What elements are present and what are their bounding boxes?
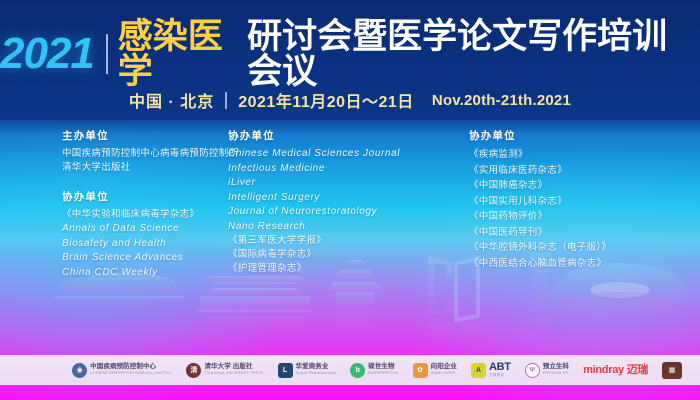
organizer-item: 《中国实用儿科杂志》 [469, 194, 700, 210]
organizer-item: Nano Research [228, 220, 445, 235]
date-chinese: 2021年11月20日～21日 [238, 88, 414, 112]
sponsor-name-cn: 清华大学 出版社 [204, 364, 263, 371]
sponsor-name-en: TSINGHUA UNIVERSITY PRESS [204, 372, 263, 376]
organizer-item: Brain Science Advances [62, 251, 220, 266]
sponsor-mark-icon: A [471, 363, 486, 378]
organizer-item: Infectious Medicine [228, 162, 445, 177]
organizer-item: 《中国医药导刊》 [469, 225, 700, 241]
sponsor-name-cn: 中国疾病预防控制中心 [90, 364, 172, 371]
date-location-row: 中国 · 北京 2021年11月20日～21日 Nov.20th-21th.20… [0, 88, 700, 112]
year-label: 2021 [0, 32, 106, 76]
sponsor-name-en: PREVAILS VP [543, 372, 569, 376]
sponsor-logo: mindray 迈瑞 [583, 365, 648, 376]
organizer-item: 《实用临床医药杂志》 [469, 163, 700, 179]
organizer-columns: 主办单位 中国疾病预防控制中心病毒病预防控制所 清华大学出版社 协办单位 《中华… [0, 128, 700, 278]
sponsor-name-en: 艾博泰克 [489, 374, 511, 378]
organizer-item: 《中西医结合心脑血管病杂志》 [469, 256, 700, 272]
title-main: 研讨会暨医学论文写作培训会议 [247, 19, 700, 89]
organizer-item: 《中华腔镜外科杂志（电子版）》 [469, 240, 700, 256]
organizer-item: 《护理管理杂志》 [228, 262, 445, 276]
sponsor-name-cn: 华爱商务业 [296, 364, 337, 371]
title-row: 2021 感染医学 研讨会暨医学论文写作培训会议 [0, 26, 700, 82]
group-heading: 协办单位 [469, 128, 700, 143]
organizer-item: Chinese Medical Sciences Journal [228, 147, 445, 162]
title-highlight: 感染医学 [118, 19, 247, 89]
organizer-item: 《中国肺癌杂志》 [469, 178, 700, 194]
sponsor-name-en: HUAAI Pharmaceutical [296, 372, 337, 376]
organizer-column-1: 主办单位 中国疾病预防控制中心病毒病预防控制所 清华大学出版社 协办单位 《中华… [0, 128, 220, 280]
organizer-item: 《中国药物评价》 [469, 209, 700, 225]
sponsor-name-en: CHINESE CENTER FOR DISEASE CONTROL [90, 372, 172, 376]
sponsor-mark-icon: Ψ [525, 363, 540, 378]
sponsor-name-cn: 向阳企业 [431, 364, 457, 371]
conference-banner: 2021 感染医学 研讨会暨医学论文写作培训会议 中国 · 北京 2021年11… [0, 0, 700, 400]
organizer-item: Journal of Neurorestoratology [228, 205, 445, 220]
date-english: Nov.20th-21th.2021 [432, 92, 571, 109]
sponsor-name-en: BIOPERFECTUS [368, 372, 398, 376]
organizer-item: 《中华实验和临床病毒学杂志》 [62, 208, 220, 222]
sponsor-mark-icon: b [350, 363, 365, 378]
sponsor-logo: 清 清华大学 出版社 TSINGHUA UNIVERSITY PRESS [186, 363, 263, 378]
sponsor-logo: Ψ 预立生科 PREVAILS VP [525, 363, 569, 378]
organizer-item: Biosafety and Health [62, 237, 220, 252]
sponsor-mark-icon: 清 [186, 363, 201, 378]
sponsor-mark-icon: L [278, 363, 293, 378]
organizer-item: Annals of Data Science [62, 222, 220, 237]
organizer-item: Intelligent Surgery [228, 191, 445, 206]
organizer-item: 《第三军医大学学报》 [228, 234, 445, 248]
sponsor-name-cn: ABT [489, 362, 511, 373]
sponsor-logo: L 华爱商务业 HUAAI Pharmaceutical [278, 363, 337, 378]
sponsor-logo: ▦ [662, 362, 682, 379]
location-label: 中国 · 北京 [129, 88, 214, 112]
organizer-column-2: 协办单位 Chinese Medical Sciences Journal In… [220, 128, 445, 276]
sponsor-logo-strip: ◉ 中国疾病预防控制中心 CHINESE CENTER FOR DISEASE … [0, 355, 700, 385]
organizer-item: 《国际病毒学杂志》 [228, 248, 445, 262]
group-heading: 主办单位 [62, 128, 220, 143]
organizer-item: iLiver [228, 176, 445, 191]
landmark-tiananmen-gate [198, 276, 312, 330]
sponsor-name-cn: 硕世生物 [368, 364, 398, 371]
sponsor-mark-icon: ✿ [413, 363, 428, 378]
sponsor-logo: ◉ 中国疾病预防控制中心 CHINESE CENTER FOR DISEASE … [72, 363, 172, 378]
sponsor-mark-icon: ▦ [662, 362, 682, 379]
sponsor-name-cn: mindray 迈瑞 [583, 365, 648, 376]
group-heading: 协办单位 [228, 128, 445, 143]
sponsor-mark-icon: ◉ [72, 363, 87, 378]
sponsor-logo: ✿ 向阳企业 SUNFLOWER [413, 363, 457, 378]
organizer-column-3: 协办单位 《疾病监测》 《实用临床医药杂志》 《中国肺癌杂志》 《中国实用儿科杂… [445, 128, 700, 271]
title-divider [106, 34, 108, 74]
organizer-item: 《疾病监测》 [469, 147, 700, 163]
organizer-item: 中国疾病预防控制中心病毒病预防控制所 [62, 147, 220, 161]
organizer-item: China CDC Weekly [62, 266, 220, 281]
sponsor-logo: b 硕世生物 BIOPERFECTUS [350, 363, 398, 378]
sponsor-name-en: SUNFLOWER [431, 372, 457, 376]
sponsor-logo: A ABT 艾博泰克 [471, 362, 511, 378]
group-heading: 协办单位 [62, 189, 220, 204]
sponsor-name-cn: 预立生科 [543, 364, 569, 371]
organizer-item: 清华大学出版社 [62, 161, 220, 175]
date-divider [225, 92, 227, 109]
